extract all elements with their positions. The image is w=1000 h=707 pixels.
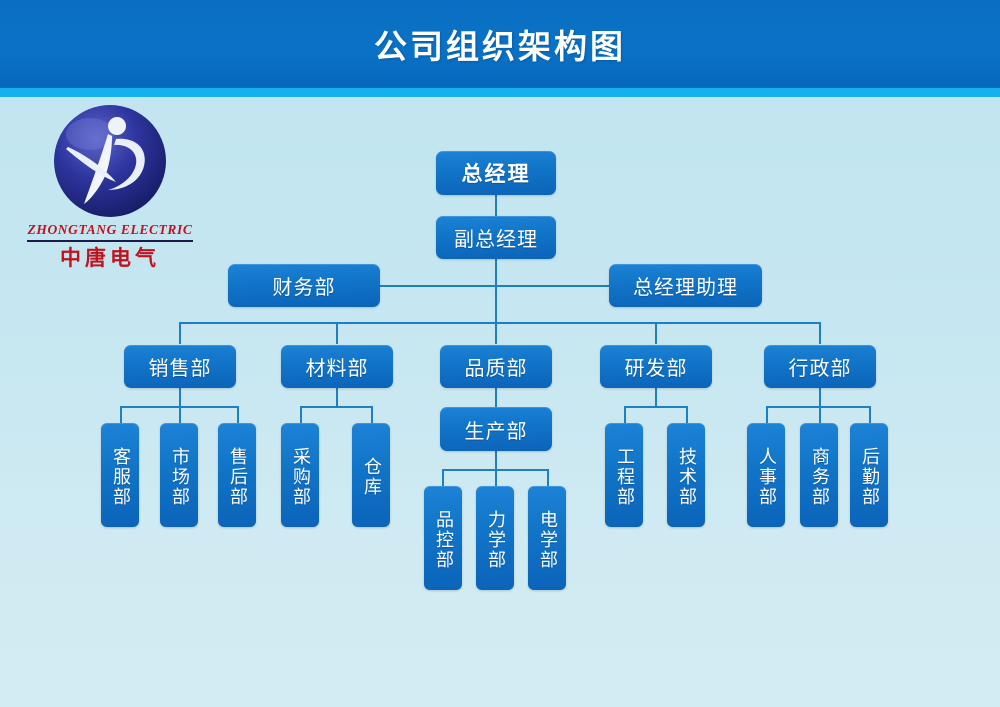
node-engineering-department[interactable]: 工程部 — [605, 423, 643, 527]
logo-chinese-text: 中唐电气 — [22, 242, 198, 272]
node-label: 生产部 — [465, 415, 528, 444]
edge-level3-horizontal — [380, 285, 610, 287]
edge-rnd-down — [655, 388, 657, 406]
node-mechanics-department[interactable]: 力学部 — [476, 486, 514, 590]
node-label: 工程部 — [615, 447, 633, 507]
edge-sales-to-customer-service — [120, 406, 122, 423]
node-after-sales-department[interactable]: 售后部 — [218, 423, 256, 527]
edge-production-to-mechanics — [495, 469, 497, 486]
node-rnd-department[interactable]: 研发部 — [600, 345, 712, 388]
node-label: 仓库 — [362, 457, 380, 497]
node-label: 售后部 — [228, 447, 246, 507]
edge-rnd-bus — [624, 406, 687, 408]
edge-trunk-to-quality — [495, 322, 497, 344]
node-label: 客服部 — [111, 447, 129, 507]
edge-sales-to-marketing — [179, 406, 181, 423]
node-label: 技术部 — [677, 447, 695, 507]
node-label: 行政部 — [789, 352, 852, 381]
edge-trunk-to-rnd — [655, 322, 657, 344]
node-customer-service-department[interactable]: 客服部 — [101, 423, 139, 527]
edge-deputy-spine — [495, 259, 497, 323]
node-label: 销售部 — [149, 352, 212, 381]
node-label: 采购部 — [291, 447, 309, 507]
node-finance-department[interactable]: 财务部 — [228, 264, 380, 307]
edge-material-to-purchasing — [300, 406, 302, 423]
node-label: 材料部 — [306, 352, 369, 381]
node-warehouse[interactable]: 仓库 — [352, 423, 390, 527]
edge-trunk-to-material — [336, 322, 338, 344]
edge-material-down — [336, 388, 338, 406]
node-label: 人事部 — [757, 447, 775, 507]
node-business-department[interactable]: 商务部 — [800, 423, 838, 527]
edge-trunk-to-sales — [179, 322, 181, 344]
edge-sales-down — [179, 388, 181, 406]
node-label: 力学部 — [486, 510, 504, 570]
edge-admin-to-hr — [766, 406, 768, 423]
header-accent-bar — [0, 88, 1000, 97]
page-header: 公司组织架构图 — [0, 0, 1000, 88]
node-label: 研发部 — [625, 352, 688, 381]
node-label: 商务部 — [810, 447, 828, 507]
node-label: 总经理助理 — [633, 271, 738, 300]
edge-admin-bus — [766, 406, 870, 408]
node-deputy-general-manager[interactable]: 副总经理 — [436, 216, 556, 259]
node-quality-department[interactable]: 品质部 — [440, 345, 552, 388]
node-label: 市场部 — [170, 447, 188, 507]
page-title: 公司组织架构图 — [374, 20, 626, 68]
node-label: 财务部 — [273, 271, 336, 300]
edge-production-to-electrics — [547, 469, 549, 486]
logo-english-text: ZHONGTANG ELECTRIC — [22, 222, 198, 238]
node-material-department[interactable]: 材料部 — [281, 345, 393, 388]
node-logistics-department[interactable]: 后勤部 — [850, 423, 888, 527]
node-electrics-department[interactable]: 电学部 — [528, 486, 566, 590]
node-label: 品控部 — [434, 510, 452, 570]
edge-material-bus — [300, 406, 372, 408]
edge-rnd-to-engineering — [624, 406, 626, 423]
company-logo: ZHONGTANG ELECTRIC 中唐电气 — [22, 104, 198, 274]
edge-gm-to-deputy — [495, 195, 497, 217]
node-general-manager[interactable]: 总经理 — [436, 151, 556, 195]
node-gm-assistant[interactable]: 总经理助理 — [609, 264, 762, 307]
edge-trunk-to-admin — [819, 322, 821, 344]
edge-rnd-to-technology — [686, 406, 688, 423]
node-label: 总经理 — [462, 158, 531, 188]
node-hr-department[interactable]: 人事部 — [747, 423, 785, 527]
node-label: 后勤部 — [860, 447, 878, 507]
node-technology-department[interactable]: 技术部 — [667, 423, 705, 527]
edge-admin-to-logistics — [869, 406, 871, 423]
edge-quality-to-production — [495, 388, 497, 407]
edge-level4-trunk — [179, 322, 821, 324]
node-admin-department[interactable]: 行政部 — [764, 345, 876, 388]
edge-production-to-quality-control — [442, 469, 444, 486]
node-marketing-department[interactable]: 市场部 — [160, 423, 198, 527]
edge-admin-down — [819, 388, 821, 406]
node-label: 副总经理 — [454, 223, 538, 252]
node-label: 品质部 — [465, 352, 528, 381]
zhongtang-sphere-icon — [44, 104, 176, 222]
node-production-department[interactable]: 生产部 — [440, 407, 552, 451]
node-purchasing-department[interactable]: 采购部 — [281, 423, 319, 527]
edge-sales-to-after-sales — [237, 406, 239, 423]
org-chart-page: 公司组织架构图 ZHONGTANG ELECTR — [0, 0, 1000, 707]
edge-material-to-warehouse — [371, 406, 373, 423]
node-sales-department[interactable]: 销售部 — [124, 345, 236, 388]
node-quality-control-department[interactable]: 品控部 — [424, 486, 462, 590]
edge-production-down — [495, 451, 497, 469]
edge-admin-to-business — [819, 406, 821, 423]
node-label: 电学部 — [538, 510, 556, 570]
